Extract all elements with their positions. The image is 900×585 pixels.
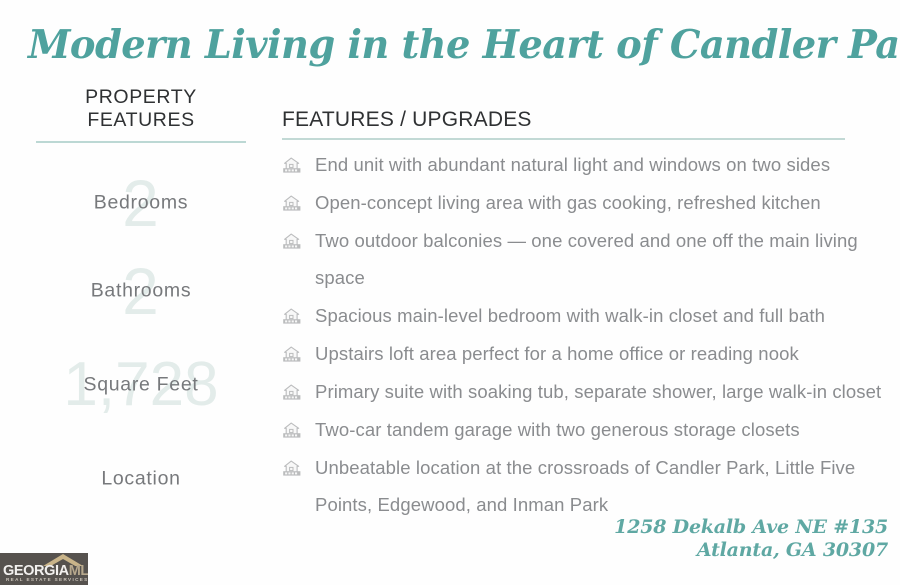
stat-square-feet-label: Square Feet <box>16 375 266 395</box>
list-item: Upstairs loft area perfect for a home of… <box>282 335 886 372</box>
list-item-text: Unbeatable location at the crossroads of… <box>315 449 886 523</box>
stat-square-feet: 1,728 Square Feet <box>16 335 266 435</box>
house-icon <box>282 346 302 363</box>
property-stats-list: 2 Bedrooms 2 Bathrooms 1,728 Square Feet… <box>16 159 266 523</box>
flyer-canvas: Modern Living in the Heart of Candler Pa… <box>0 0 900 585</box>
house-icon <box>282 460 302 477</box>
house-icon <box>282 384 302 401</box>
stat-bathrooms-label: Bathrooms <box>16 281 266 301</box>
list-item-text: End unit with abundant natural light and… <box>315 146 886 183</box>
address-line-2: Atlanta, GA 30307 <box>614 539 888 562</box>
page-title: Modern Living in the Heart of Candler Pa… <box>28 21 900 69</box>
stat-bedrooms-label: Bedrooms <box>16 193 266 213</box>
list-item-text: Two-car tandem garage with two generous … <box>315 411 886 448</box>
list-item: Two outdoor balconies — one covered and … <box>282 222 886 296</box>
list-item-text: Upstairs loft area perfect for a home of… <box>315 335 886 372</box>
stat-bathrooms: 2 Bathrooms <box>16 247 266 335</box>
house-icon <box>282 308 302 325</box>
property-features-heading-line1: PROPERTY <box>30 86 252 109</box>
address-line-1: 1258 Dekalb Ave NE #135 <box>614 516 888 539</box>
house-icon <box>282 233 302 250</box>
house-icon <box>282 422 302 439</box>
property-features-divider <box>36 141 246 143</box>
features-upgrades-divider <box>282 138 845 140</box>
property-features-panel: PROPERTY FEATURES 2 Bedrooms 2 Bathrooms… <box>16 86 266 523</box>
stat-location-label: Location <box>16 469 266 489</box>
property-features-heading: PROPERTY FEATURES <box>16 86 266 132</box>
features-list: End unit with abundant natural light and… <box>282 146 886 523</box>
features-upgrades-heading: FEATURES / UPGRADES <box>282 108 886 132</box>
stat-location: Location <box>16 435 266 523</box>
list-item: Open-concept living area with gas cookin… <box>282 184 886 221</box>
list-item-text: Spacious main-level bedroom with walk-in… <box>315 297 886 334</box>
list-item: Two-car tandem garage with two generous … <box>282 411 886 448</box>
list-item-text: Primary suite with soaking tub, separate… <box>315 373 886 410</box>
house-icon <box>282 195 302 212</box>
list-item: Unbeatable location at the crossroads of… <box>282 449 886 523</box>
logo-tagline: REAL ESTATE SERVICES <box>6 578 88 583</box>
house-icon <box>282 157 302 174</box>
features-upgrades-panel: FEATURES / UPGRADES End unit with abunda… <box>282 108 886 524</box>
georgia-mls-logo: GEORGIAMLS REAL ESTATE SERVICES <box>0 553 88 585</box>
property-features-heading-line2: FEATURES <box>30 109 252 132</box>
list-item: End unit with abundant natural light and… <box>282 146 886 183</box>
stat-bedrooms: 2 Bedrooms <box>16 159 266 247</box>
property-address: 1258 Dekalb Ave NE #135 Atlanta, GA 3030… <box>614 516 888 562</box>
list-item-text: Two outdoor balconies — one covered and … <box>315 222 886 296</box>
list-item-text: Open-concept living area with gas cookin… <box>315 184 886 221</box>
list-item: Primary suite with soaking tub, separate… <box>282 373 886 410</box>
list-item: Spacious main-level bedroom with walk-in… <box>282 297 886 334</box>
